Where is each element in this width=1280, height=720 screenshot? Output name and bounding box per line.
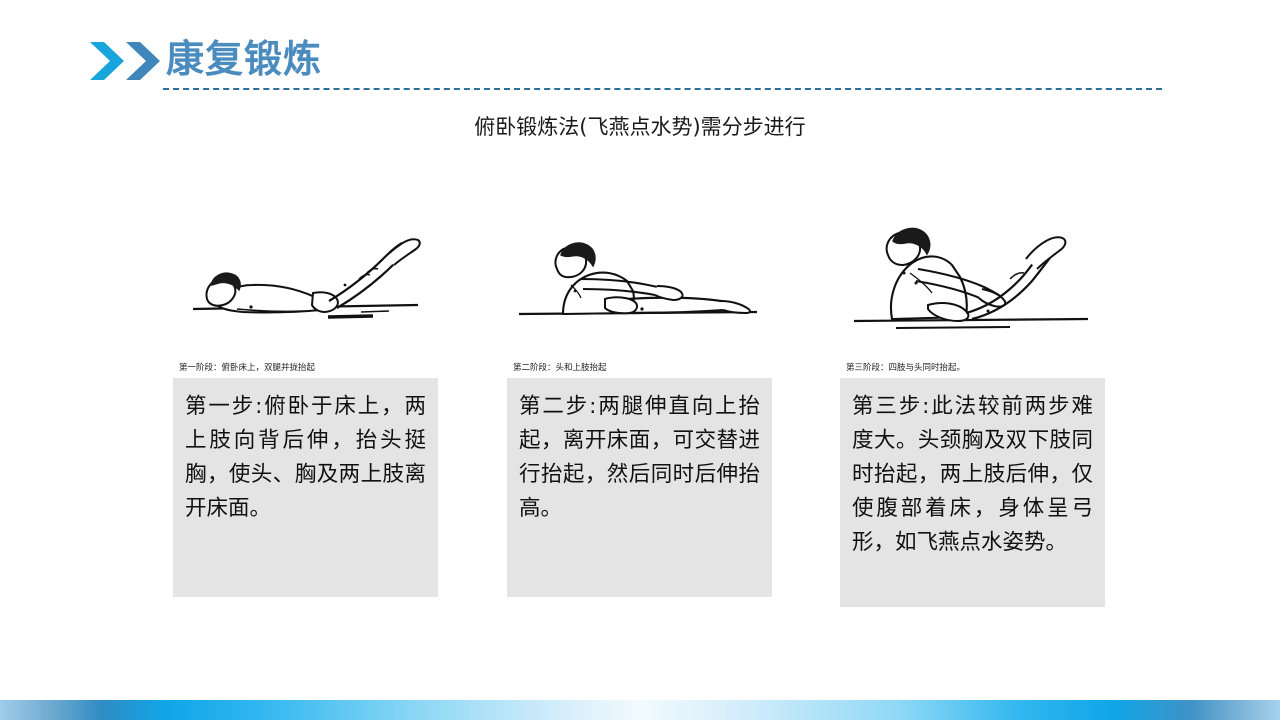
header-chevron-group (88, 40, 164, 82)
slide-header: 康复锻炼 (0, 0, 1280, 100)
step-description: 第一步:俯卧于床上，两上肢向背后伸，抬头挺胸，使头、胸及两上肢离开床面。 (173, 378, 438, 597)
figure-caption: 第三阶段：四肢与头同时抬起。 (840, 361, 1105, 378)
exercise-step-card: 第二阶段：头和上肢抬起 第二步:两腿伸直向上抬起，离开床面，可交替进行抬起，然后… (507, 213, 772, 597)
step-description: 第三步:此法较前两步难度大。头颈胸及双下肢同时抬起，两上肢后伸，仅使腹部着床，身… (840, 378, 1105, 607)
figure-caption: 第二阶段：头和上肢抬起 (507, 361, 772, 378)
header-divider (163, 88, 1162, 90)
slide-subtitle: 俯卧锻炼法(飞燕点水势)需分步进行 (0, 112, 1280, 142)
step-description: 第二步:两腿伸直向上抬起，离开床面，可交替进行抬起，然后同时后伸抬高。 (507, 378, 772, 597)
exercise-step-card: 第三阶段：四肢与头同时抬起。 第三步:此法较前两步难度大。头颈胸及双下肢同时抬起… (840, 213, 1105, 607)
footer-gradient-band (0, 700, 1280, 720)
page-title: 康复锻炼 (166, 36, 322, 82)
chevron-right-icon (124, 40, 164, 82)
exercise-step-card: 第一阶段：俯卧床上，双腿并拢抬起 第一步:俯卧于床上，两上肢向背后伸，抬头挺胸，… (173, 213, 438, 597)
prone-head-arms-raised-illustration (507, 213, 772, 361)
chevron-right-icon (88, 40, 128, 82)
prone-full-swallow-illustration (840, 213, 1105, 361)
exercise-step-cards: 第一阶段：俯卧床上，双腿并拢抬起 第一步:俯卧于床上，两上肢向背后伸，抬头挺胸，… (0, 213, 1280, 613)
prone-legs-raised-illustration (173, 213, 438, 361)
figure-caption: 第一阶段：俯卧床上，双腿并拢抬起 (173, 361, 438, 378)
